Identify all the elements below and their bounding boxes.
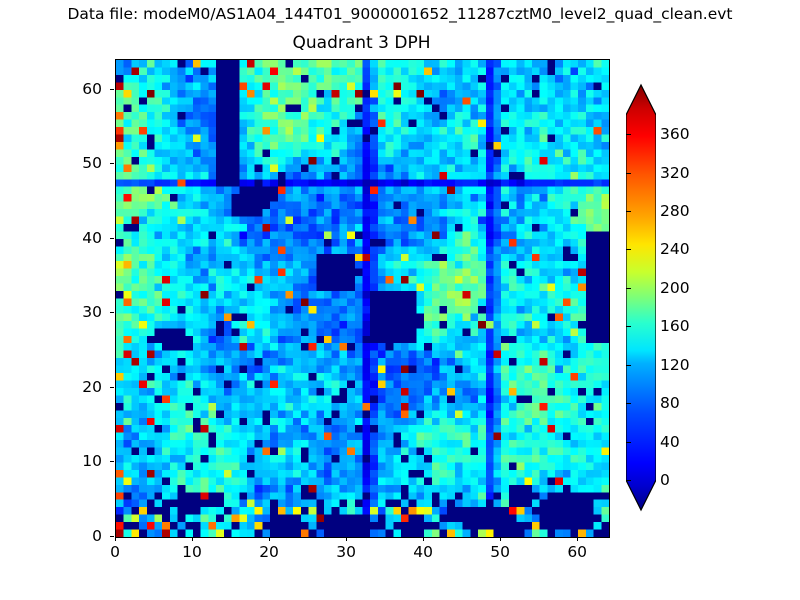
colorbar-tick-label: 360 <box>660 125 690 143</box>
y-tick-mark <box>110 536 114 537</box>
heatmap-image <box>116 60 609 537</box>
y-tick-mark <box>110 89 114 90</box>
y-tick-label: 10 <box>42 452 102 470</box>
x-tick-mark <box>115 537 116 541</box>
colorbar-tick-mark <box>626 249 631 250</box>
colorbar-tick-mark <box>626 403 631 404</box>
colorbar-tick-label: 120 <box>660 356 690 374</box>
colorbar-tick-mark <box>626 211 631 212</box>
x-tick-label: 40 <box>393 543 453 561</box>
x-tick-mark <box>423 537 424 541</box>
colorbar-tick-label: 320 <box>660 164 690 182</box>
y-tick-mark <box>110 312 114 313</box>
colorbar-tick-mark <box>626 442 631 443</box>
x-tick-label: 0 <box>85 543 145 561</box>
colorbar-gradient <box>626 59 656 536</box>
x-tick-label: 50 <box>470 543 530 561</box>
x-tick-mark <box>577 537 578 541</box>
y-tick-mark <box>110 238 114 239</box>
colorbar-tick-label: 200 <box>660 279 690 297</box>
colorbar-tick-label: 160 <box>660 317 690 335</box>
colorbar-tick-mark <box>626 288 631 289</box>
y-tick-label: 60 <box>42 80 102 98</box>
x-tick-mark <box>269 537 270 541</box>
x-tick-label: 20 <box>239 543 299 561</box>
colorbar-tick-mark <box>626 326 631 327</box>
colorbar-tick-label: 80 <box>660 394 680 412</box>
y-tick-label: 50 <box>42 154 102 172</box>
colorbar-tick-mark <box>626 134 631 135</box>
colorbar-body <box>626 85 656 510</box>
matplotlib-figure: Data file: modeM0/AS1A04_144T01_90000016… <box>0 0 800 600</box>
x-tick-label: 30 <box>316 543 376 561</box>
colorbar-tick-label: 0 <box>660 471 670 489</box>
y-tick-label: 20 <box>42 378 102 396</box>
x-tick-label: 10 <box>162 543 222 561</box>
x-tick-label: 60 <box>547 543 607 561</box>
y-tick-mark <box>110 163 114 164</box>
colorbar-tick-label: 280 <box>660 202 690 220</box>
y-tick-label: 40 <box>42 229 102 247</box>
x-tick-mark <box>500 537 501 541</box>
colorbar-tick-label: 40 <box>660 433 680 451</box>
heatmap-axes <box>115 59 610 538</box>
y-tick-label: 30 <box>42 303 102 321</box>
colorbar-tick-mark <box>626 173 631 174</box>
y-tick-mark <box>110 387 114 388</box>
colorbar-tick-mark <box>626 365 631 366</box>
y-tick-label: 0 <box>42 527 102 545</box>
figure-suptitle: Data file: modeM0/AS1A04_144T01_90000016… <box>0 5 800 23</box>
colorbar: 04080120160200240280320360 <box>626 59 656 536</box>
colorbar-tick-mark <box>626 480 631 481</box>
axes-title: Quadrant 3 DPH <box>115 33 608 53</box>
x-tick-mark <box>192 537 193 541</box>
colorbar-tick-label: 240 <box>660 240 690 258</box>
x-tick-mark <box>346 537 347 541</box>
y-tick-mark <box>110 461 114 462</box>
